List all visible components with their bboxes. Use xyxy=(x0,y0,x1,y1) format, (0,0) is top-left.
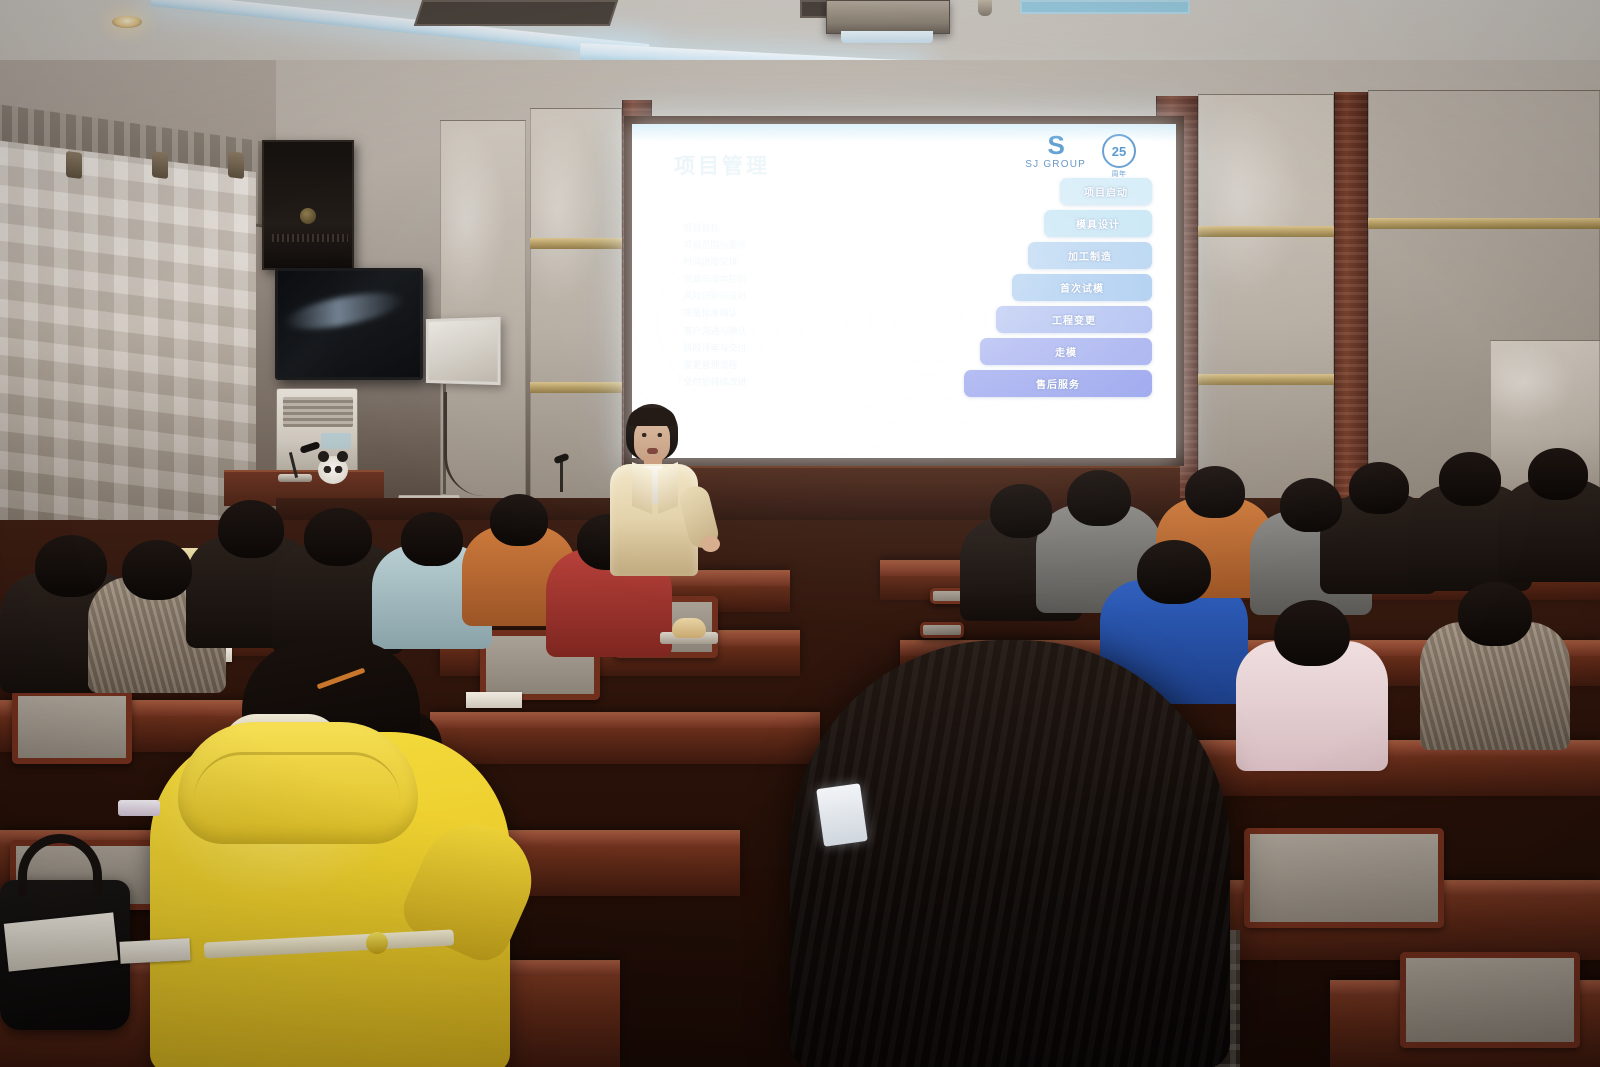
gold-accent-band xyxy=(1198,374,1334,385)
attendee-head xyxy=(1137,540,1211,604)
gold-accent-band xyxy=(530,238,622,249)
gold-accent-band xyxy=(1198,226,1334,237)
attendee-head xyxy=(1274,600,1350,666)
attendee-head xyxy=(490,494,548,546)
auditorium-chair[interactable] xyxy=(12,690,132,764)
process-step-2: 模具设计 xyxy=(1044,210,1152,237)
process-step-3: 加工制造 xyxy=(1028,242,1152,269)
curtain-tieback xyxy=(228,151,244,179)
wood-column xyxy=(1334,92,1368,508)
ceiling-projector xyxy=(826,0,950,34)
projection-screen: 项目管理 S SJ GROUP 25 周年 · 项目目标· 项目范围与要求· 时… xyxy=(632,124,1176,458)
slide-bullet-3: · 时间进度安排 xyxy=(678,254,888,271)
slide-bullet-4: · 资源与成本控制 xyxy=(678,271,888,288)
speaker-badge-icon xyxy=(300,208,316,224)
attendee-head xyxy=(1349,462,1409,514)
attendee-head xyxy=(122,540,192,600)
tablet-device[interactable] xyxy=(816,783,868,847)
attendee-head xyxy=(218,500,284,558)
slide-bullet-8: · 阶段评审与交付 xyxy=(678,340,888,357)
presenter-lapel xyxy=(632,462,652,514)
wall-tv xyxy=(275,268,423,380)
gold-accent-band xyxy=(1368,218,1600,229)
process-step-5: 工程变更 xyxy=(996,306,1152,333)
projection-screen-frame: 项目管理 S SJ GROUP 25 周年 · 项目目标· 项目范围与要求· 时… xyxy=(624,116,1184,466)
conference-room-photo: 项目管理 S SJ GROUP 25 周年 · 项目目标· 项目范围与要求· 时… xyxy=(0,0,1600,1067)
slide-bullet-1: · 项目目标 xyxy=(678,220,888,237)
process-step-7: 售后服务 xyxy=(964,370,1152,397)
gold-accent-band xyxy=(530,382,622,393)
slide-bullet-6: · 质量标准确认 xyxy=(678,305,888,322)
attendee-yellow-coat xyxy=(150,640,520,1067)
attendee-head xyxy=(990,484,1052,538)
speaker-grill xyxy=(272,234,348,242)
curtain-tieback xyxy=(152,151,168,179)
slide-body-text: · 项目目标· 项目范围与要求· 时间进度安排· 资源与成本控制· 风险识别与应… xyxy=(678,220,888,391)
phone[interactable] xyxy=(118,800,160,816)
panda-eyes xyxy=(323,466,343,473)
downlight-icon xyxy=(112,16,142,28)
marble-panel xyxy=(1198,94,1334,508)
foreground-attendee-head xyxy=(790,640,1230,1067)
bread-roll xyxy=(672,618,706,638)
attendee-head xyxy=(401,512,463,566)
attendee-head xyxy=(304,508,372,566)
stage-microphone xyxy=(560,460,563,492)
logo-brand-text: SJ GROUP xyxy=(1025,159,1086,170)
presenter-hand xyxy=(701,536,720,552)
desk-nameplate xyxy=(920,622,964,638)
slide-bullet-2: · 项目范围与要求 xyxy=(678,237,888,254)
attendee-head xyxy=(1528,448,1588,500)
attendee-head xyxy=(1439,452,1501,506)
auditorium-chair[interactable] xyxy=(1400,952,1580,1048)
attendee-head xyxy=(35,535,107,597)
process-staircase-diagram: 项目启动模具设计加工制造首次试模工程变更走模售后服务 xyxy=(964,178,1152,397)
tv-screen-glare xyxy=(282,286,405,336)
ac-vent xyxy=(283,397,353,427)
framed-wall-panel xyxy=(426,317,501,385)
process-step-4: 首次试模 xyxy=(1012,274,1152,301)
auditorium-chair[interactable] xyxy=(1244,828,1444,928)
process-step-1: 项目启动 xyxy=(1060,178,1152,205)
ac-control-panel[interactable] xyxy=(321,433,351,449)
presenter xyxy=(598,404,708,576)
screen-top-glow xyxy=(632,124,1176,142)
attendee-head xyxy=(1280,478,1342,532)
curtain-tieback xyxy=(66,151,82,179)
slide-title: 项目管理 xyxy=(674,150,770,180)
slide-bullet-10: · 交付后持续改进 xyxy=(678,374,888,391)
presenter-eyes xyxy=(639,433,665,437)
slide-bullet-5: · 风险识别与应对 xyxy=(678,288,888,305)
slide-bullet-9: · 变更管理流程 xyxy=(678,357,888,374)
presenter-lapel xyxy=(658,462,678,514)
hood-seam xyxy=(194,752,400,826)
attendee-head xyxy=(1185,466,1245,518)
process-step-6: 走模 xyxy=(980,338,1152,365)
attendee-head xyxy=(1458,582,1532,646)
sprinkler-icon xyxy=(978,0,992,16)
attendee-head xyxy=(1067,470,1131,526)
ceiling-panel xyxy=(1020,0,1190,14)
panda-plush-icon xyxy=(318,456,348,484)
wall-speaker xyxy=(262,140,354,270)
slide-bullet-7: · 客户沟通与确认 xyxy=(678,323,888,340)
papers xyxy=(119,938,190,964)
ceiling-panel xyxy=(414,0,618,26)
presenter-fringe xyxy=(628,408,676,426)
presenter-mouth xyxy=(647,448,658,454)
